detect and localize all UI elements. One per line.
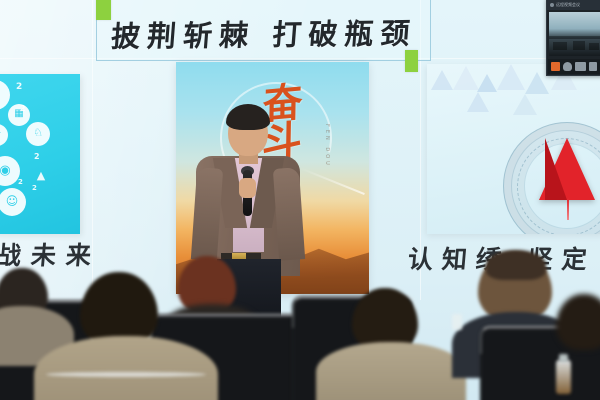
speaker-hand — [239, 178, 256, 198]
poster-left: ⚙ ▦ ♘ ✈ ◉ ☺ 2 2 2 2 2 ▲ — [0, 74, 80, 234]
video-conference-panel[interactable]: 远程视频会议 — [546, 0, 600, 76]
rocket-icon: ▲ — [34, 170, 48, 181]
plane-icon: ✈ — [0, 129, 6, 139]
video-panel-status-dot — [550, 3, 554, 7]
red-pyramid-shadow-face — [545, 138, 567, 200]
screenshot-root: 披荆斩棘 打破瓶颈 ⚙ ▦ ♘ ✈ ◉ ☺ 2 2 2 2 2 ▲ 战未来 奋斗… — [0, 0, 600, 400]
video-panel-title: 远程视频会议 — [556, 2, 580, 8]
gear-icon: ⚙ — [0, 88, 6, 101]
video-icon[interactable] — [589, 62, 597, 71]
poster-left-number-5: 2 — [32, 184, 37, 192]
video-feed-band-3 — [573, 41, 585, 50]
poster-left-number-3: 2 — [34, 152, 40, 161]
poster-left-number-4: 2 — [18, 178, 23, 186]
audience-member-center-front-shoulders — [34, 336, 218, 400]
audience-member-center-right-shoulders — [316, 342, 466, 400]
audience-member-center-front-collar — [46, 372, 206, 377]
person-icon: ☺ — [2, 195, 22, 207]
share-screen-icon[interactable] — [575, 62, 586, 71]
origami-shape-7 — [467, 92, 489, 112]
audience-member-right-front-hair — [486, 250, 546, 280]
poster-center-pinyin: FEN DOU — [324, 124, 330, 168]
globe-icon: ◉ — [0, 164, 16, 177]
poster-left-number-1: 2 — [16, 82, 22, 92]
origami-shape-8 — [513, 94, 537, 115]
origami-shape-1 — [431, 70, 453, 90]
poster-right: 目标 — [427, 64, 600, 234]
compass-needle-icon — [567, 198, 569, 220]
video-feed-band-4 — [589, 43, 599, 50]
video-panel-toolbar[interactable] — [548, 59, 600, 74]
origami-shape-2 — [453, 66, 479, 90]
water-bottle-2 — [556, 360, 571, 394]
poster-left-number-2: 2 — [20, 104, 26, 113]
origami-shape-3 — [477, 74, 497, 92]
origami-shape-4 — [497, 64, 525, 90]
banner-title: 披荆斩棘 打破瓶颈 — [102, 6, 426, 59]
microphone-icon[interactable] — [563, 62, 572, 71]
chess-knight-icon: ♘ — [29, 127, 47, 138]
video-panel-header: 远程视频会议 — [547, 0, 600, 10]
water-bottle — [452, 314, 462, 330]
video-feed-band-2 — [553, 42, 567, 50]
video-panel-feed — [549, 12, 600, 56]
video-feed-band-1 — [549, 36, 600, 39]
participant-icon[interactable] — [551, 62, 560, 71]
water-bottle-2-cap — [559, 354, 568, 362]
